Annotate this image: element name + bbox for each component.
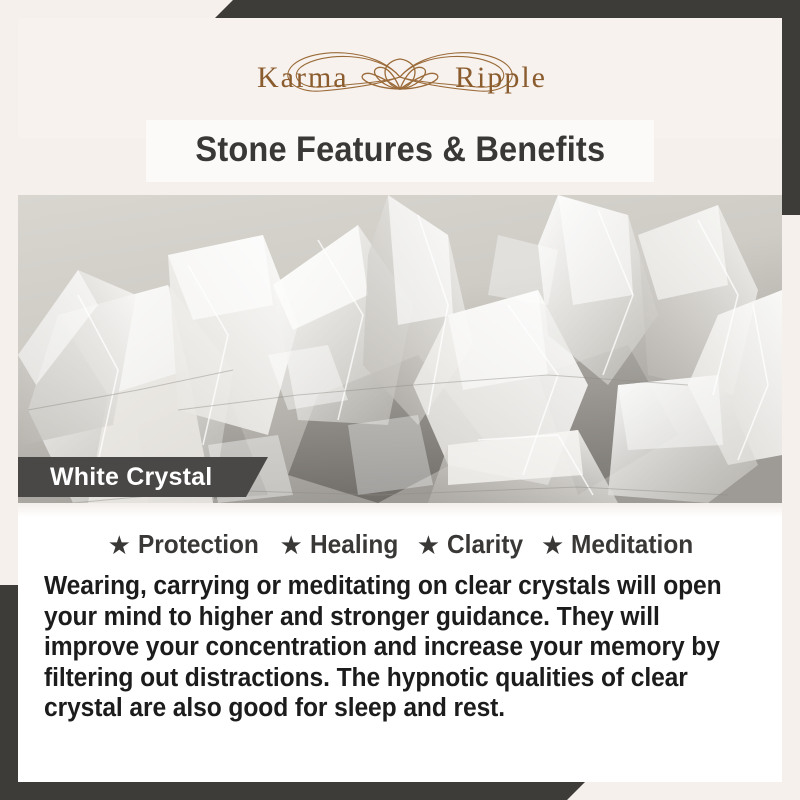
frame-bar-right xyxy=(782,0,800,215)
star-icon: ★ xyxy=(280,532,303,558)
benefit-label: Meditation xyxy=(571,529,693,560)
benefits-list: ★ Protection ★ Healing ★ Clarity ★ Medit… xyxy=(18,529,782,560)
title-box: Stone Features & Benefits xyxy=(146,120,655,182)
benefit-label: Protection xyxy=(138,529,259,560)
title-band: Stone Features & Benefits xyxy=(18,120,782,182)
benefit-label: Clarity xyxy=(447,529,523,560)
frame-bar-bottom xyxy=(0,782,585,800)
benefit-item: ★ Healing xyxy=(271,529,404,560)
poster: Karma Ripple Stone Features & Benefits xyxy=(0,0,800,800)
star-icon: ★ xyxy=(417,532,440,558)
brand-logo: Karma Ripple xyxy=(235,41,565,115)
frame-bar-left xyxy=(0,585,18,800)
crystal-cluster-illustration xyxy=(18,195,782,503)
description-text: Wearing, carrying or meditating on clear… xyxy=(44,571,731,724)
frame-bar-top xyxy=(215,0,800,18)
content-area: ★ Protection ★ Healing ★ Clarity ★ Medit… xyxy=(18,503,782,782)
benefit-label: Healing xyxy=(310,529,398,560)
crystal-photo: White Crystal xyxy=(18,195,782,503)
content-card: Karma Ripple Stone Features & Benefits xyxy=(18,18,782,782)
stone-name-banner: White Crystal xyxy=(18,457,268,497)
stone-name-label: White Crystal xyxy=(50,463,212,492)
brand-name-right: Ripple xyxy=(455,61,547,95)
benefit-item: ★ Meditation xyxy=(532,529,701,560)
star-icon: ★ xyxy=(541,532,564,558)
page-title: Stone Features & Benefits xyxy=(195,130,605,170)
brand-name-left: Karma xyxy=(257,61,349,95)
benefit-item: ★ Protection xyxy=(99,529,267,560)
star-icon: ★ xyxy=(108,532,131,558)
benefit-item: ★ Clarity xyxy=(408,529,528,560)
content-fade xyxy=(18,503,782,517)
